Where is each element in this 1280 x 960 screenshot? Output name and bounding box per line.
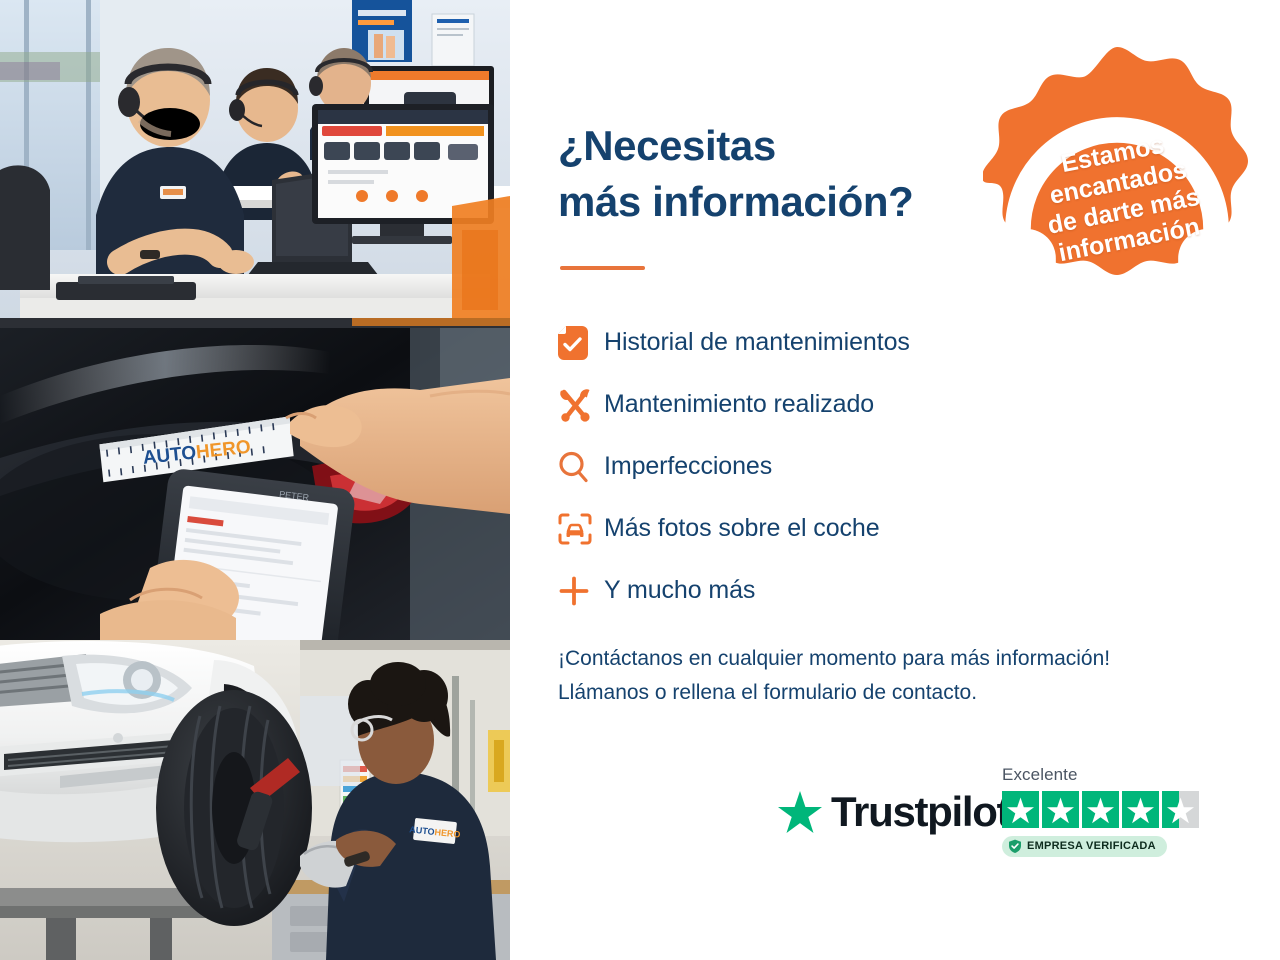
rating-stars bbox=[1002, 791, 1202, 828]
call-center-agents-photo bbox=[0, 0, 510, 318]
trustpilot-logo[interactable]: Trustpilot bbox=[778, 791, 1009, 833]
trustpilot-wordmark: Trustpilot bbox=[831, 791, 1009, 833]
promo-starburst-badge: Estamos encantados de darte más informac… bbox=[983, 43, 1251, 311]
verified-business-badge: EMPRESA VERIFICADA bbox=[1002, 836, 1167, 857]
rating-star bbox=[1002, 791, 1039, 828]
feature-item-much-more: Y mucho más bbox=[558, 560, 1118, 622]
feature-item-maintenance-done: Mantenimiento realizado bbox=[558, 374, 1118, 436]
feature-label: Mantenimiento realizado bbox=[604, 391, 874, 419]
rating-star bbox=[1082, 791, 1119, 828]
trustpilot-rating: Excelente bbox=[1002, 765, 1202, 858]
photo-column: AUTOHERO bbox=[0, 0, 510, 960]
feature-list: Historial de mantenimientos M bbox=[558, 312, 1118, 622]
magnifier-icon bbox=[558, 447, 604, 487]
feature-label: Historial de mantenimientos bbox=[604, 329, 910, 357]
car-inspection-ruler-photo: AUTOHERO bbox=[0, 318, 510, 640]
feature-label: Más fotos sobre el coche bbox=[604, 515, 880, 543]
rating-star bbox=[1162, 791, 1199, 828]
feature-label: Y mucho más bbox=[604, 577, 755, 605]
contact-line-2: Llámanos o rellena el formulario de cont… bbox=[558, 676, 1238, 710]
headline-line-2: más información? bbox=[558, 174, 988, 230]
plus-icon bbox=[558, 571, 604, 611]
page-title: ¿Necesitas más información? bbox=[558, 118, 988, 230]
contact-paragraph: ¡Contáctanos en cualquier momento para m… bbox=[558, 642, 1238, 710]
workshop-tyre-change-photo: AUTOHERO bbox=[0, 640, 510, 960]
verified-label: EMPRESA VERIFICADA bbox=[1027, 841, 1156, 852]
marketing-banner: AUTOHERO bbox=[0, 0, 1280, 960]
feature-item-more-photos: Más fotos sobre el coche bbox=[558, 498, 1118, 560]
document-check-icon bbox=[558, 323, 604, 363]
rating-label: Excelente bbox=[1002, 765, 1202, 785]
contact-line-1: ¡Contáctanos en cualquier momento para m… bbox=[558, 642, 1238, 676]
feature-label: Imperfecciones bbox=[604, 453, 772, 481]
rating-star bbox=[1042, 791, 1079, 828]
tools-wrench-screwdriver-icon bbox=[558, 385, 604, 425]
trustpilot-star-icon bbox=[778, 791, 822, 833]
content-panel: ¿Necesitas más información? Estamos enca… bbox=[510, 0, 1280, 960]
title-underline-divider bbox=[560, 266, 645, 270]
trustpilot-widget[interactable]: Trustpilot Excelente bbox=[778, 765, 1198, 880]
feature-item-imperfections: Imperfecciones bbox=[558, 436, 1118, 498]
car-viewfinder-icon bbox=[558, 509, 604, 549]
headline-line-1: ¿Necesitas bbox=[558, 118, 988, 174]
shield-check-icon bbox=[1008, 839, 1022, 853]
feature-item-maintenance-history: Historial de mantenimientos bbox=[558, 312, 1118, 374]
rating-star bbox=[1122, 791, 1159, 828]
